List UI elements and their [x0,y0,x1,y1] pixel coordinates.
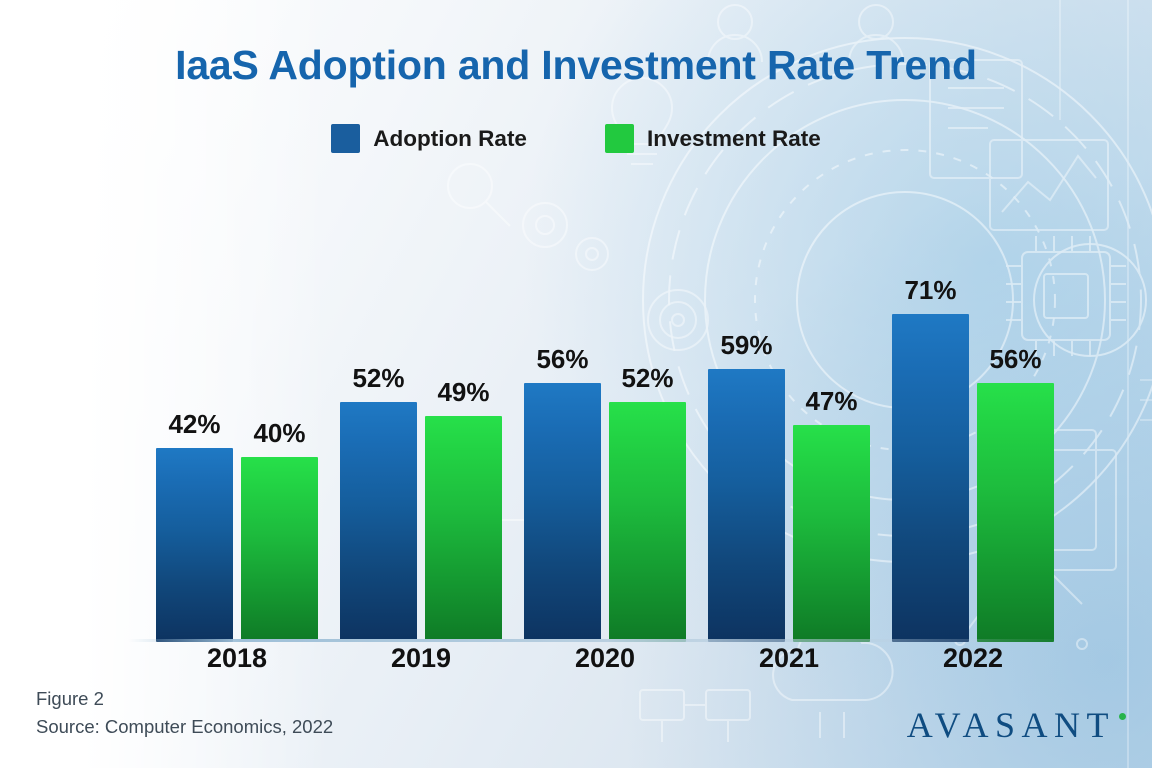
bar-2018-adoption [156,448,233,642]
chart-plot-area: 42% 40% 52% 49% 56% 52% [128,180,1076,642]
logo-accent-dot [1119,713,1126,720]
bar-wrap-2021-adoption: 59% [708,180,785,642]
bar-chart: 42% 40% 52% 49% 56% 52% [128,180,1076,642]
bar-wrap-2022-investment: 56% [977,180,1054,642]
bar-wrap-2018-adoption: 42% [156,180,233,642]
bar-group-2022: 71% 56% [892,180,1054,642]
bar-wrap-2020-adoption: 56% [524,180,601,642]
x-tick-2019: 2019 [340,643,502,674]
x-tick-2021: 2021 [708,643,870,674]
avasant-logo: AVASANT [907,704,1126,746]
bar-wrap-2022-adoption: 71% [892,180,969,642]
bar-wrap-2019-adoption: 52% [340,180,417,642]
legend-swatch-adoption [331,124,360,153]
bar-2020-investment [609,402,686,642]
legend-item-adoption-rate: Adoption Rate [331,124,527,153]
x-axis-tick-labels: 2018 2019 2020 2021 2022 [128,643,1076,674]
legend-label-adoption: Adoption Rate [373,126,527,152]
source-text: Source: Computer Economics, 2022 [36,713,333,742]
bar-label-2018-adoption: 42% [168,409,220,440]
bar-2021-investment [793,425,870,642]
bar-group-2020: 56% 52% [524,180,686,642]
bar-wrap-2019-investment: 49% [425,180,502,642]
chart-legend: Adoption Rate Investment Rate [0,124,1152,153]
bar-group-2021: 59% 47% [708,180,870,642]
bar-label-2021-adoption: 59% [720,330,772,361]
bar-2022-adoption [892,314,969,642]
bar-label-2020-adoption: 56% [536,344,588,375]
bar-2018-investment [241,457,318,642]
bar-2019-investment [425,416,502,642]
x-tick-2020: 2020 [524,643,686,674]
page-title: IaaS Adoption and Investment Rate Trend [0,42,1152,89]
bar-2021-adoption [708,369,785,642]
x-tick-2018: 2018 [156,643,318,674]
bar-2020-adoption [524,383,601,642]
bar-group-2018: 42% 40% [156,180,318,642]
bar-label-2022-investment: 56% [989,344,1041,375]
legend-label-investment: Investment Rate [647,126,821,152]
legend-item-investment-rate: Investment Rate [605,124,821,153]
x-axis-line [128,639,1076,642]
logo-wordmark: AVASANT [907,704,1115,746]
figure-number: Figure 2 [36,685,333,714]
bar-wrap-2020-investment: 52% [609,180,686,642]
legend-swatch-investment [605,124,634,153]
x-tick-2022: 2022 [892,643,1054,674]
bar-label-2020-investment: 52% [621,363,673,394]
footer-caption: Figure 2 Source: Computer Economics, 202… [36,685,333,742]
bar-label-2019-adoption: 52% [352,363,404,394]
bar-group-2019: 52% 49% [340,180,502,642]
bar-label-2018-investment: 40% [253,418,305,449]
bar-label-2019-investment: 49% [437,377,489,408]
bar-wrap-2021-investment: 47% [793,180,870,642]
bar-2019-adoption [340,402,417,642]
bar-2022-investment [977,383,1054,642]
bar-label-2021-investment: 47% [805,386,857,417]
bar-label-2022-adoption: 71% [904,275,956,306]
bar-wrap-2018-investment: 40% [241,180,318,642]
